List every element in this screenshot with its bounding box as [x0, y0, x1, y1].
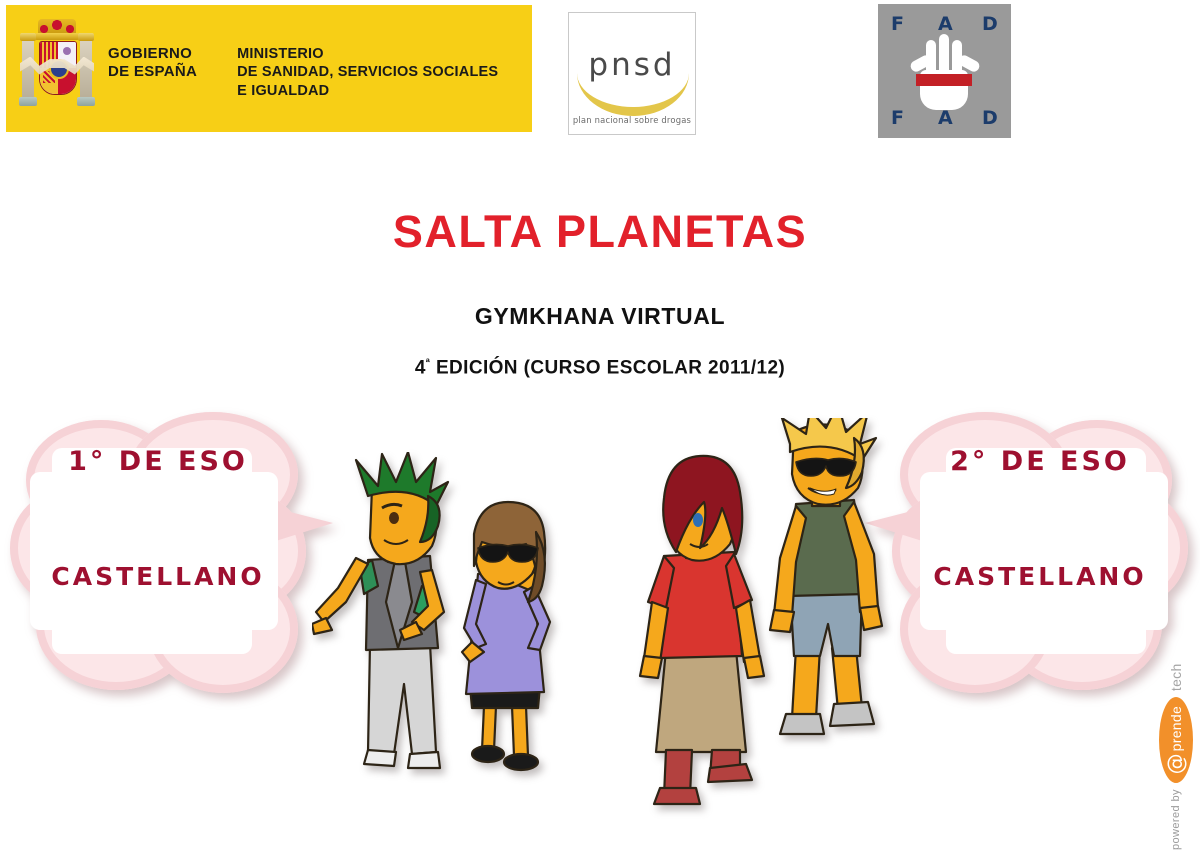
watermark-brand-badge: @ prende	[1159, 697, 1193, 783]
ministerio-label: MINISTERIO DE SANIDAD, SERVICIOS SOCIALE…	[237, 45, 498, 101]
bubble-right-language: CASTELLANO	[890, 562, 1190, 591]
bubble-left-language: CASTELLANO	[8, 562, 308, 591]
edition-line: 4ª EDICIÓN (CURSO ESCOLAR 2011/12)	[0, 357, 1200, 379]
edition-number: 4	[415, 357, 426, 378]
watermark-powered-by: powered by	[1170, 789, 1182, 850]
page-subtitle: GYMKHANA VIRTUAL	[0, 303, 1200, 330]
gobierno-de-espana-banner: GOBIERNO DE ESPAÑA MINISTERIO DE SANIDAD…	[6, 5, 532, 132]
character-boy-blond-hair	[750, 418, 900, 768]
pnsd-logo: pnsd plan nacional sobre drogas	[568, 12, 696, 135]
watermark-brand-name: prende	[1168, 706, 1184, 751]
at-symbol-icon: @	[1166, 753, 1187, 774]
bubble-right-course: 2° DE ESO	[890, 446, 1190, 477]
spain-coat-of-arms-icon	[20, 17, 94, 121]
fad-letter-d-top: D	[982, 13, 998, 35]
pnsd-tagline: plan nacional sobre drogas	[569, 115, 695, 125]
edition-text: EDICIÓN (CURSO ESCOLAR 2011/12)	[430, 357, 785, 378]
speech-bubble-left[interactable]: 1° DE ESO CASTELLANO	[8, 410, 308, 700]
ministerio-line-2: DE SANIDAD, SERVICIOS SOCIALES	[237, 63, 498, 82]
watermark-suffix: tech	[1168, 663, 1184, 691]
fad-letter-f-bottom: F	[891, 107, 904, 129]
page-title: SALTA PLANETAS	[0, 206, 1200, 258]
ministerio-line-1: MINISTERIO	[237, 45, 498, 64]
watermark: powered by @ prende tech	[1154, 600, 1198, 850]
fad-letter-a-top: A	[938, 13, 953, 35]
fad-logo: F A D F A D	[878, 4, 1011, 138]
gobierno-line-2: DE ESPAÑA	[108, 63, 197, 81]
bubble-left-course: 1° DE ESO	[8, 446, 308, 477]
speech-bubble-right[interactable]: 2° DE ESO CASTELLANO	[890, 410, 1190, 700]
gobierno-label: GOBIERNO DE ESPAÑA	[108, 45, 197, 82]
fad-letter-d-bottom: D	[982, 107, 998, 129]
gobierno-line-1: GOBIERNO	[108, 45, 197, 63]
fad-letter-f-top: F	[891, 13, 904, 35]
ministerio-line-3: E IGUALDAD	[237, 82, 498, 101]
open-hand-icon	[910, 34, 980, 112]
slide-canvas: GOBIERNO DE ESPAÑA MINISTERIO DE SANIDAD…	[0, 0, 1200, 854]
pnsd-wordmark: pnsd	[569, 47, 695, 83]
character-girl-sunglasses	[448, 500, 568, 780]
